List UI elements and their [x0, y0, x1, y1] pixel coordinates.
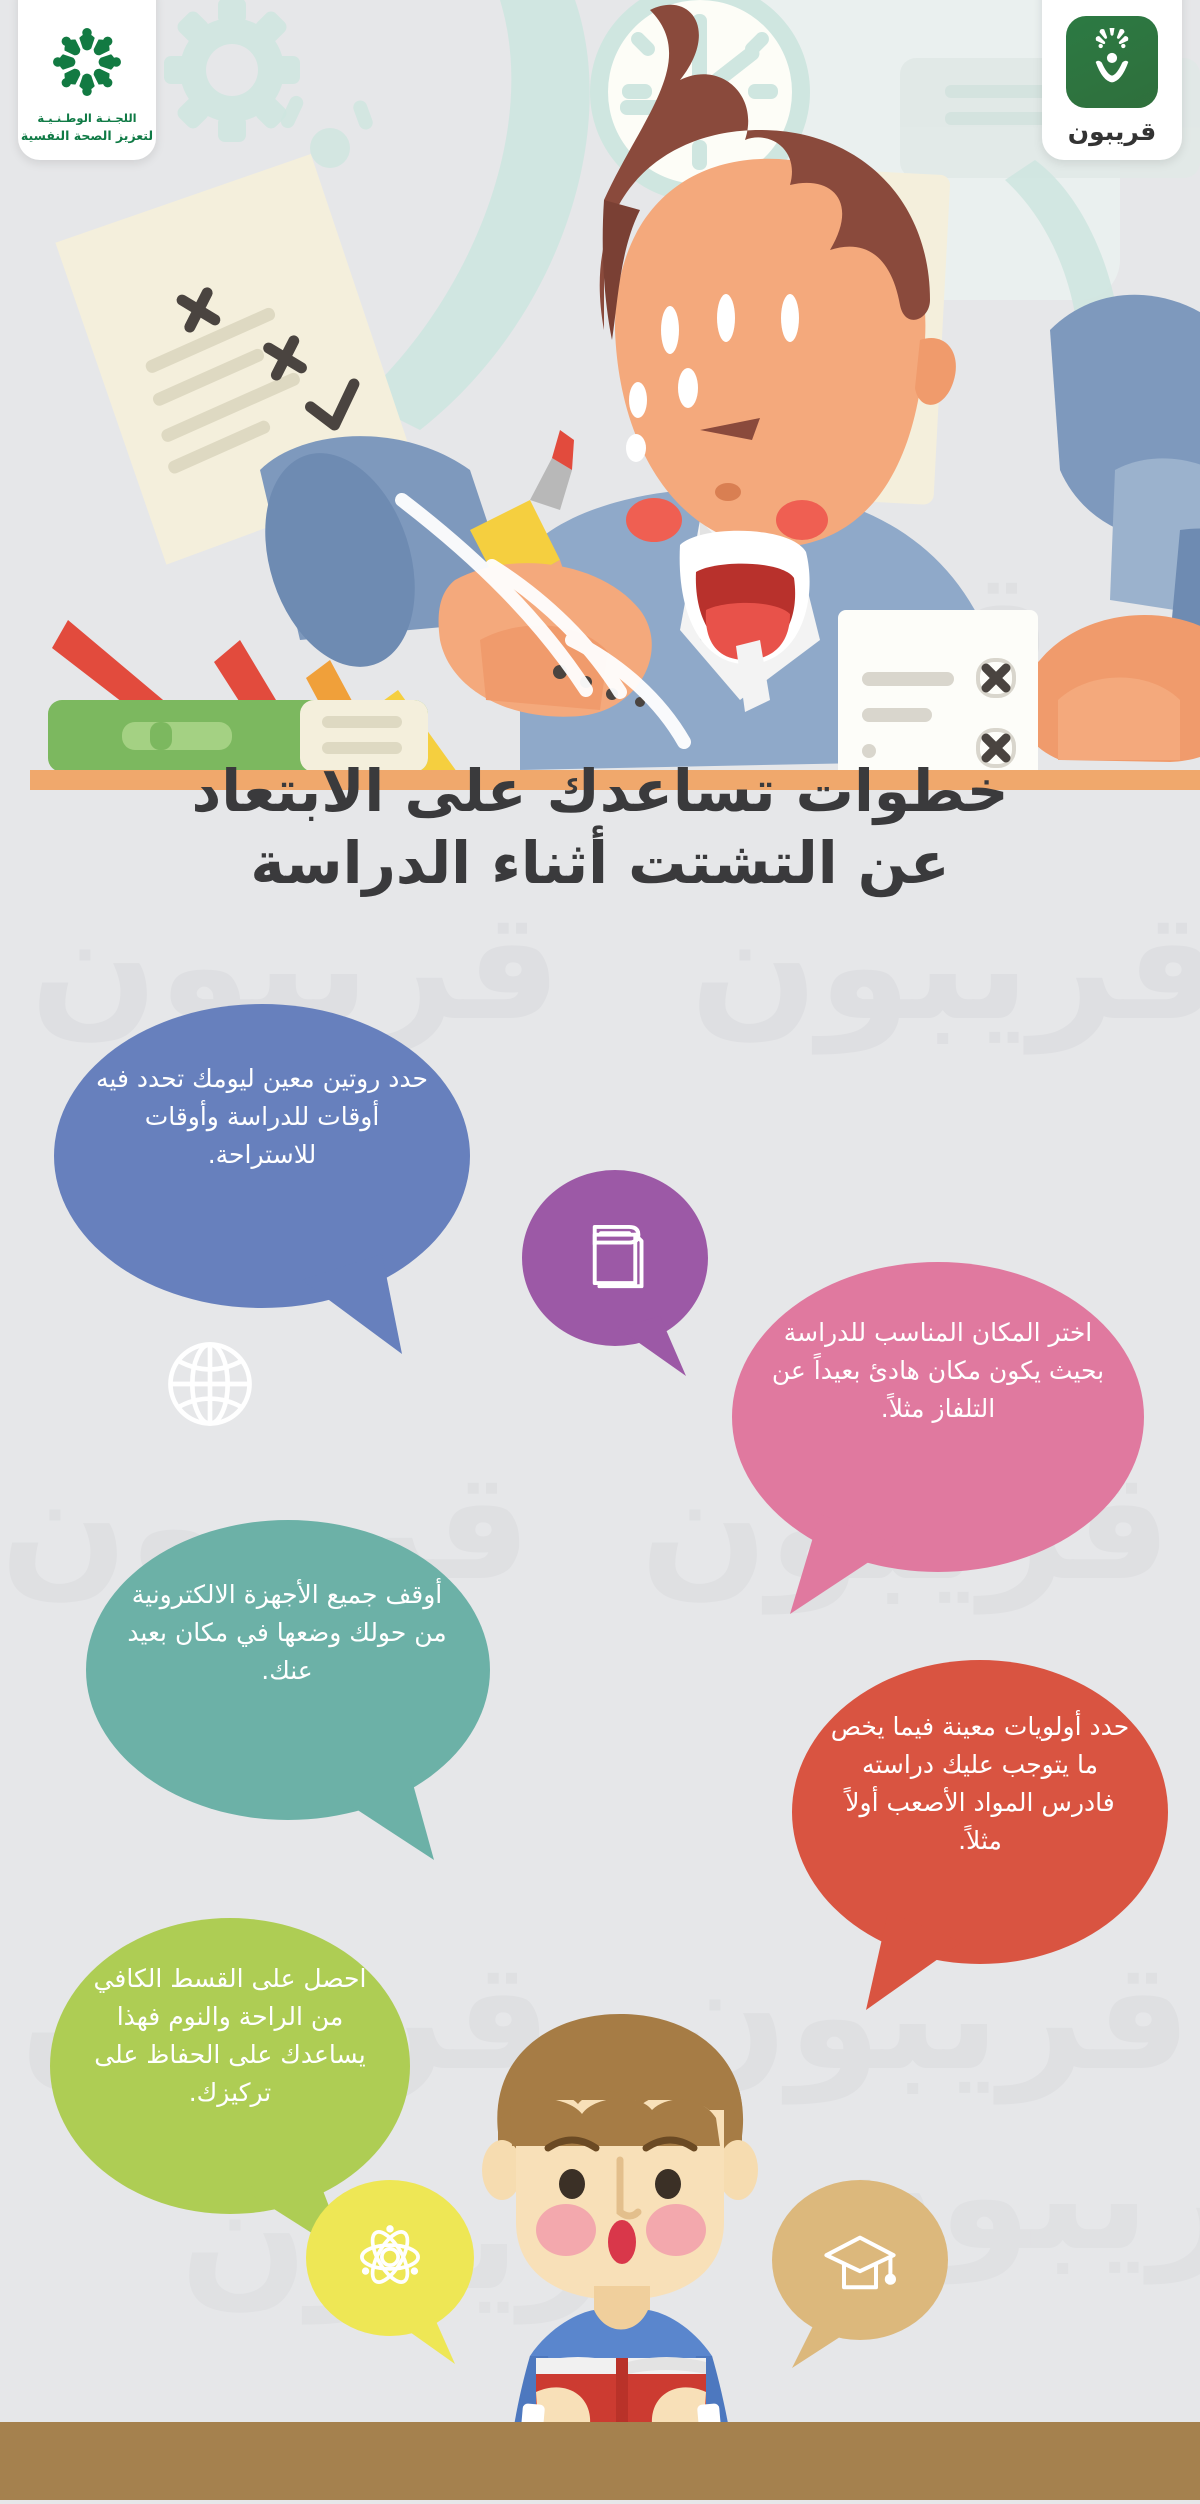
committee-emblem-icon — [44, 19, 130, 105]
committee-name-line1: اللجـنـة الوطـنـيـة — [37, 111, 136, 125]
title-line-1: خطوات تساعدك على الابتعاد — [191, 757, 1008, 825]
title-line-2: عن التشتت أثناء الدراسة — [250, 829, 949, 897]
national-committee-logo[interactable]: اللجـنـة الوطـنـيـة لتعزيز الصحة النفسية — [18, 0, 156, 160]
hero-illustration — [0, 0, 1200, 790]
tip-bubble-place[interactable]: اختر المكان المناسب للدراسة بحيث يكون مك… — [728, 1262, 1148, 1572]
infographic-canvas: قريبون قريبون قريبون قريبون قريبون قريبو… — [0, 0, 1200, 2500]
watermark: قريبون — [690, 880, 1200, 1054]
tip-bubble-routine[interactable]: حدد روتين معين ليومك تحدد فيه أوقات للدر… — [52, 1004, 472, 1304]
committee-name-line2: لتعزيز الصحة النفسية — [21, 128, 153, 143]
page-title: خطوات تساعدك على الابتعاد عن التشتت أثنا… — [0, 756, 1200, 900]
qareeboon-tile — [1066, 16, 1158, 108]
gear-icon — [164, 0, 300, 142]
tip-text-place: اختر المكان المناسب للدراسة بحيث يكون مك… — [770, 1314, 1106, 1428]
desk-surface — [0, 2422, 1200, 2500]
qareeboon-logo[interactable]: قريبون — [1042, 0, 1182, 160]
icon-bubble-book[interactable] — [520, 1168, 710, 1348]
tip-text-routine: حدد روتين معين ليومك تحدد فيه أوقات للدر… — [96, 1060, 428, 1174]
qareeboon-brand-name: قريبون — [1068, 117, 1157, 146]
globe-icon — [158, 1332, 262, 1436]
tip-bubble-rest[interactable]: احصل على القسط الكافي من الراحة والنوم ف… — [48, 1918, 418, 2218]
tip-text-rest: احصل على القسط الكافي من الراحة والنوم ف… — [78, 1960, 382, 2112]
tip-bubble-priorities[interactable]: حدد أولويات معينة فيما يخص ما يتوجب عليك… — [790, 1660, 1170, 1960]
tip-bubble-devices[interactable]: أوقف جميع الأجهزة الالكترونية من حولك وض… — [78, 1520, 498, 1820]
qareeboon-face-icon — [1078, 28, 1146, 96]
tip-text-priorities: حدد أولويات معينة فيما يخص ما يتوجب عليك… — [824, 1708, 1136, 1860]
tip-text-devices: أوقف جميع الأجهزة الالكترونية من حولك وض… — [122, 1576, 452, 1690]
book-icon — [576, 1216, 654, 1294]
